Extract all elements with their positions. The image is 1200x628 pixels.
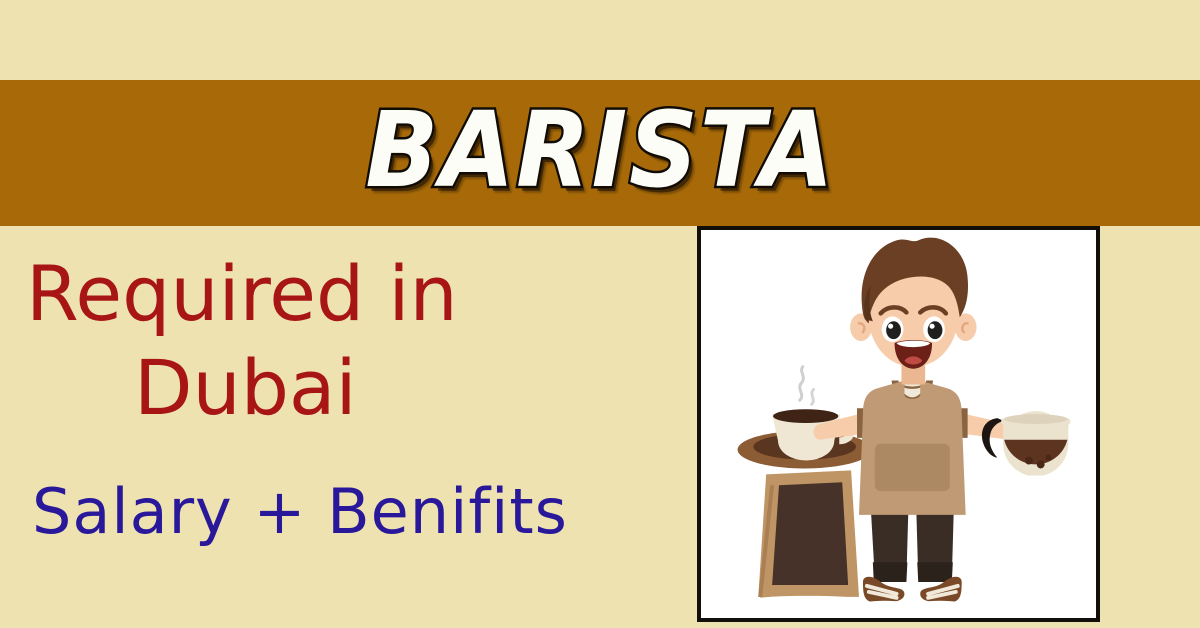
illustration-frame (697, 226, 1100, 622)
page-title: BARISTA (365, 98, 835, 208)
benefits-line: Salary + Benifits (32, 480, 568, 543)
barista-illustration (701, 230, 1096, 618)
barista-head (850, 238, 976, 385)
poster-canvas: BARISTA Required in Dubai Salary + Benif… (0, 0, 1200, 628)
barista-legs (859, 509, 966, 609)
barista-torso (859, 381, 966, 515)
copy-block: Required in Dubai Salary + Benifits (0, 245, 680, 615)
headline-line-1: Required in (26, 255, 458, 333)
title-banner: BARISTA (0, 80, 1200, 226)
chalkboard-sign (752, 470, 863, 603)
coffee-pot (982, 411, 1070, 483)
shoes (859, 577, 966, 609)
headline-line-2: Dubai (134, 349, 357, 427)
